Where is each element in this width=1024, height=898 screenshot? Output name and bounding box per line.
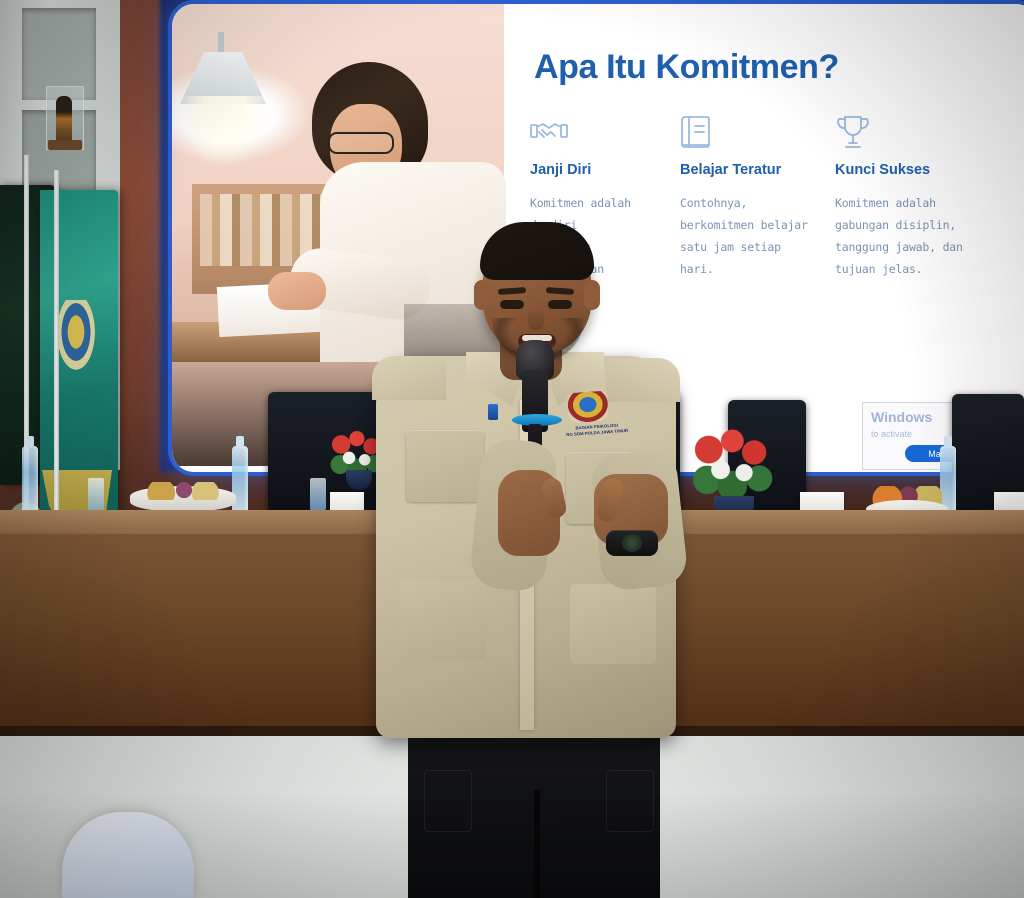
snack-items [146,482,222,500]
watch-face [622,534,642,552]
cargo-pocket [424,770,472,832]
column-body: Komitmen adalah gabungan disiplin, tangg… [835,192,995,280]
drinking-glass [310,478,326,512]
lower-pocket-right [570,584,656,664]
slide-column-belajar-teratur: Belajar Teratur Contohnya, berkomitmen b… [680,114,835,280]
eye-left [500,300,524,309]
shoulder-left [372,356,446,400]
water-bottle [22,446,38,512]
water-bottle [940,446,956,512]
column-body: Contohnya, berkomitmen belajar satu jam … [680,192,835,280]
handshake-icon [530,114,680,156]
police-emblem-icon [567,391,609,424]
ear-left [474,280,490,310]
book-icon [680,114,835,156]
lamp-glow [178,96,270,166]
nose [528,308,544,330]
column-heading: Janji Diri [530,162,680,178]
dialog-subtitle: to activate [871,429,912,439]
trophy-icon [835,114,995,156]
student-hand [268,272,326,310]
shoulder-right [606,358,680,402]
trouser-seam [534,790,540,898]
drinking-glass [88,478,104,512]
slide-title: Apa Itu Komitmen? [534,48,839,87]
cargo-pocket [606,770,654,832]
chest-pocket-left [406,430,484,502]
column-heading: Belajar Teratur [680,162,835,178]
flower-arrangement [692,428,776,500]
screenshot-root: Apa Itu Komitmen? Janji Diri Kom [0,0,1024,898]
column-heading: Kunci Sukses [835,162,995,178]
eye-right [548,300,572,309]
speaker-hair [480,222,594,280]
dialog-title: Windows [871,409,932,425]
figurine [56,96,72,142]
ear-right [584,280,600,310]
lower-pocket-left [400,580,486,660]
uniform-badge [488,404,498,420]
slide-column-kunci-sukses: Kunci Sukses Komitmen adalah gabungan di… [835,114,995,280]
slide-columns: Janji Diri Komitmen adalah da diri tau o… [530,114,1000,280]
figurine-base [48,140,82,150]
flag-pole [54,170,59,530]
flag-emblem-icon [52,300,100,380]
glasses-icon [328,132,394,154]
